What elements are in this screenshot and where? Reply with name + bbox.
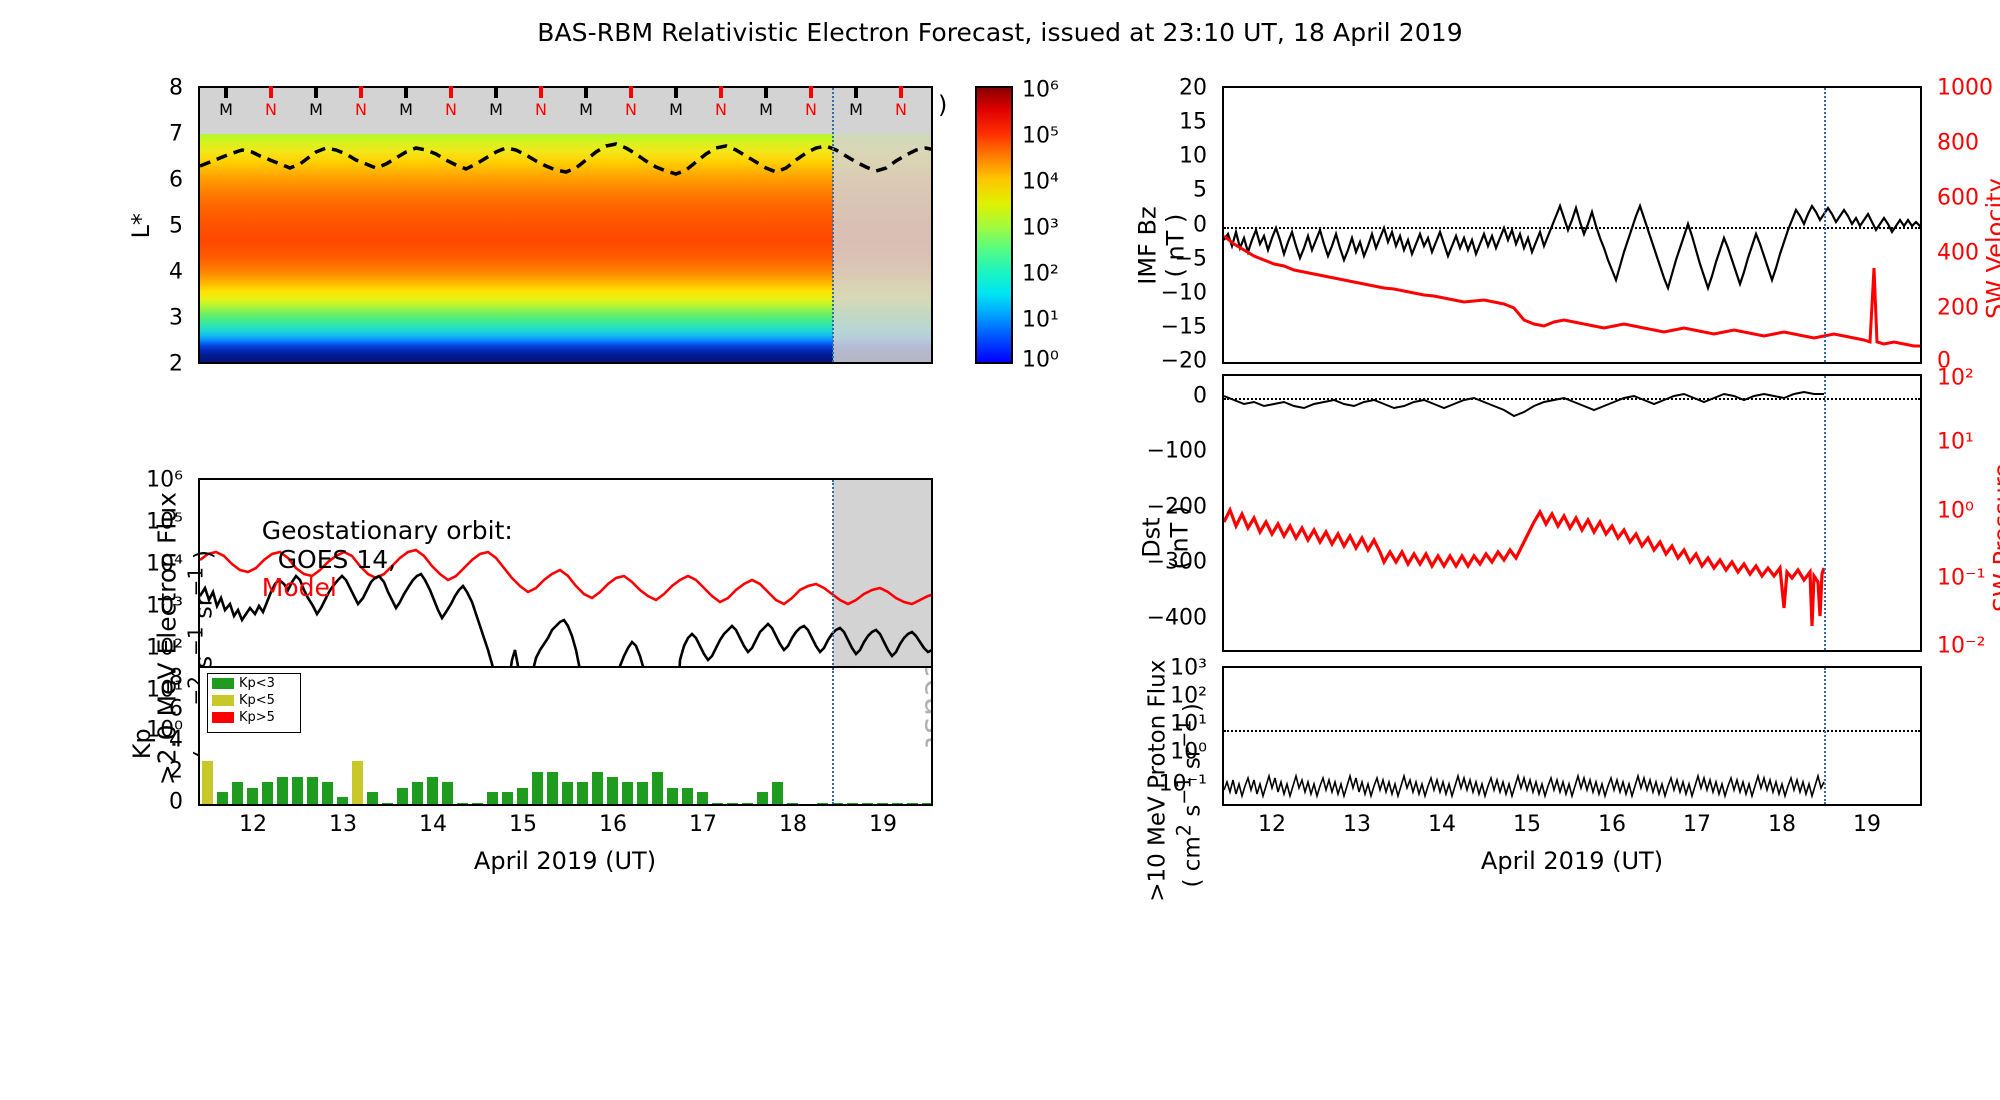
sw-pressure-ylabel-right: SW Pressure( nPa ) <box>1989 423 2000 653</box>
pressure-ytick-right: 10² <box>1928 366 1974 391</box>
kp-legend-row: Kp<5 <box>212 693 296 708</box>
kp-ylabel: Kp <box>129 709 157 779</box>
kp-ytick: 6 <box>169 697 192 722</box>
mn-label-n: N <box>715 100 727 119</box>
proton-xtick: 19 <box>1853 812 1881 837</box>
imf-ytick-right: 400 <box>1928 241 1979 266</box>
panel-geo-flux: Forecast Geostationary orbit: GOES 14, M… <box>0 400 1080 660</box>
imf-ytick-left: 0 <box>1193 213 1216 238</box>
imf-ytick-left: −20 <box>1161 349 1216 374</box>
geo-annotation: Geostationary orbit: GOES 14, Model <box>230 488 750 632</box>
kp-legend-row: Kp<3 <box>212 676 296 691</box>
colorbar-tick: 10⁵ <box>1013 124 1059 149</box>
proton-xtick: 12 <box>1258 812 1286 837</box>
proton-plot-area[interactable] <box>1222 666 1922 806</box>
kp-xtick: 18 <box>779 812 807 837</box>
kp-ytick: 4 <box>169 728 192 753</box>
mn-tick-m <box>224 86 228 98</box>
dst-series <box>1224 392 1824 416</box>
proton-xlabel: April 2019 (UT) <box>1372 848 1772 876</box>
colorbar-tick: 10² <box>1013 262 1059 287</box>
goes14-legend-label: GOES 14 <box>278 545 388 574</box>
mn-marker-group: M N M N M N M N M N M N M N M N <box>198 86 933 132</box>
lstar-ytick: 8 <box>169 76 192 101</box>
kp-low-swatch <box>212 678 234 689</box>
kp-xtick: 19 <box>869 812 897 837</box>
pressure-ytick-right: 10⁰ <box>1928 499 1974 524</box>
imf-sw-traces <box>1224 88 1922 364</box>
mn-label-n: N <box>895 100 907 119</box>
imf-ytick-right: 800 <box>1928 131 1979 156</box>
model-legend-label: Model <box>262 573 337 602</box>
mn-tick-m <box>494 86 498 98</box>
forecast-watermark: Forecast <box>918 666 934 757</box>
kp-xtick: 15 <box>509 812 537 837</box>
kp-bars <box>200 668 933 806</box>
proton-ylabel: >10 MeV Proton Flux( cm2 s−1 sr−1 ) <box>1115 630 1236 960</box>
imf-ytick-left: 20 <box>1179 76 1216 101</box>
lstar-ytick: 6 <box>169 168 192 193</box>
mn-tick-m <box>764 86 768 98</box>
kp-legend-row: Kp>5 <box>212 710 296 725</box>
mn-tick-n <box>629 86 633 98</box>
colorbar-tick: 10⁰ <box>1013 348 1059 373</box>
pressure-ytick-right: 10¹ <box>1928 430 1974 455</box>
imf-ytick-right: 1000 <box>1928 76 1993 101</box>
panel-lstar-flux: >2.0 MeV Electron Flux at 88○ pitch angl… <box>0 0 1080 400</box>
imf-ytick-right: 200 <box>1928 296 1979 321</box>
kp-mid-label: Kp<5 <box>239 693 275 708</box>
proton-xtick: 18 <box>1768 812 1796 837</box>
kp-mid-swatch <box>212 695 234 706</box>
mn-tick-n <box>269 86 273 98</box>
mn-label-m: M <box>489 100 503 119</box>
kp-plot-area[interactable]: Forecast Kp<3 Kp<5 Kp>5 <box>198 666 933 806</box>
kp-ytick: 0 <box>169 790 192 815</box>
kp-low-label: Kp<3 <box>239 676 275 691</box>
imf-ytick-right: 600 <box>1928 186 1979 211</box>
kp-ytick: 8 <box>169 666 192 691</box>
kp-xtick: 13 <box>329 812 357 837</box>
mn-tick-m <box>404 86 408 98</box>
mn-tick-m <box>584 86 588 98</box>
pressure-ytick-right: 10⁻¹ <box>1928 566 1985 591</box>
proton-flux-series <box>1224 668 1922 806</box>
mn-tick-n <box>809 86 813 98</box>
mn-label-m: M <box>579 100 593 119</box>
pressure-ytick-right: 10⁻² <box>1928 634 1985 659</box>
panel-imf-sw: 20 15 10 5 0 −5 −10 −15 −20 1000 800 600… <box>1080 0 2000 380</box>
dst-ylabel-left: Dst( nT ) <box>1138 438 1193 638</box>
kp-high-label: Kp>5 <box>239 710 275 725</box>
panel-dst-pressure: 0 −100 −200 −300 −400 10² 10¹ 10⁰ 10⁻¹ 1… <box>1080 380 2000 670</box>
kp-xtick: 12 <box>239 812 267 837</box>
dst-plot-area[interactable] <box>1222 374 1922 652</box>
kp-xtick: 16 <box>599 812 627 837</box>
kp-ytick: 2 <box>169 759 192 784</box>
kp-xtick: 14 <box>419 812 447 837</box>
geo-annotation-text: Geostationary orbit: <box>262 516 513 545</box>
imf-plot-area[interactable] <box>1222 86 1922 364</box>
mn-label-n: N <box>265 100 277 119</box>
mn-tick-n <box>359 86 363 98</box>
mn-tick-n <box>899 86 903 98</box>
lstar-ylabel: L* <box>128 196 156 256</box>
lstar-ytick: 4 <box>169 260 192 285</box>
kp-xlabel: April 2019 (UT) <box>365 848 765 876</box>
kp-xtick: 17 <box>689 812 717 837</box>
lstar-ytick: 2 <box>169 352 192 377</box>
kp-legend: Kp<3 Kp<5 Kp>5 <box>207 673 301 733</box>
proton-xtick: 17 <box>1683 812 1711 837</box>
proton-xtick: 13 <box>1343 812 1371 837</box>
mn-label-m: M <box>669 100 683 119</box>
mn-tick-m <box>674 86 678 98</box>
sw-pressure-series <box>1224 510 1824 626</box>
issue-time-line <box>1824 88 1826 362</box>
mn-label-m: M <box>849 100 863 119</box>
colorbar-gradient <box>977 88 1011 362</box>
lstar-ytick: 7 <box>169 122 192 147</box>
mn-tick-m <box>314 86 318 98</box>
imf-ylabel-left: IMF Bz( nT ) <box>1134 146 1189 346</box>
mn-label-m: M <box>399 100 413 119</box>
mn-label-m: M <box>219 100 233 119</box>
proton-xtick: 16 <box>1598 812 1626 837</box>
issue-time-line <box>1824 668 1826 804</box>
sw-velocity-ylabel-right: SW Velocity( km s−1 ) <box>1982 134 2000 364</box>
proton-xtick: 15 <box>1513 812 1541 837</box>
mn-label-n: N <box>355 100 367 119</box>
mn-label-m: M <box>759 100 773 119</box>
proton-xtick: 14 <box>1428 812 1456 837</box>
mn-label-n: N <box>625 100 637 119</box>
colorbar <box>975 86 1013 364</box>
dst-pressure-traces <box>1224 376 1922 652</box>
mn-label-m: M <box>309 100 323 119</box>
imf-ytick-left: 5 <box>1193 178 1216 203</box>
mn-tick-n <box>719 86 723 98</box>
lstar-ytick: 5 <box>169 214 192 239</box>
panel-proton-flux: 10³ 10² 10¹ 10⁰ 10⁻¹ >10 MeV Proton Flux… <box>1080 660 2000 1100</box>
colorbar-tick: 10³ <box>1013 216 1059 241</box>
colorbar-tick: 10⁶ <box>1013 78 1059 103</box>
mn-tick-n <box>449 86 453 98</box>
imf-ytick-left: 15 <box>1179 110 1216 135</box>
colorbar-tick: 10¹ <box>1013 308 1059 333</box>
issue-time-line <box>1824 376 1826 650</box>
mn-tick-n <box>539 86 543 98</box>
mn-label-n: N <box>535 100 547 119</box>
colorbar-tick: 10⁴ <box>1013 170 1059 195</box>
mn-tick-m <box>854 86 858 98</box>
dst-ytick-left: 0 <box>1193 384 1216 409</box>
lstar-ytick: 3 <box>169 306 192 331</box>
panel-kp: Forecast Kp<3 Kp<5 Kp>5 8 6 4 2 0 Kp 12 … <box>0 660 1080 1100</box>
kp-high-swatch <box>212 712 234 723</box>
kp-bar-group <box>202 761 933 806</box>
issue-time-line <box>832 668 834 804</box>
mn-label-n: N <box>805 100 817 119</box>
mn-label-n: N <box>445 100 457 119</box>
